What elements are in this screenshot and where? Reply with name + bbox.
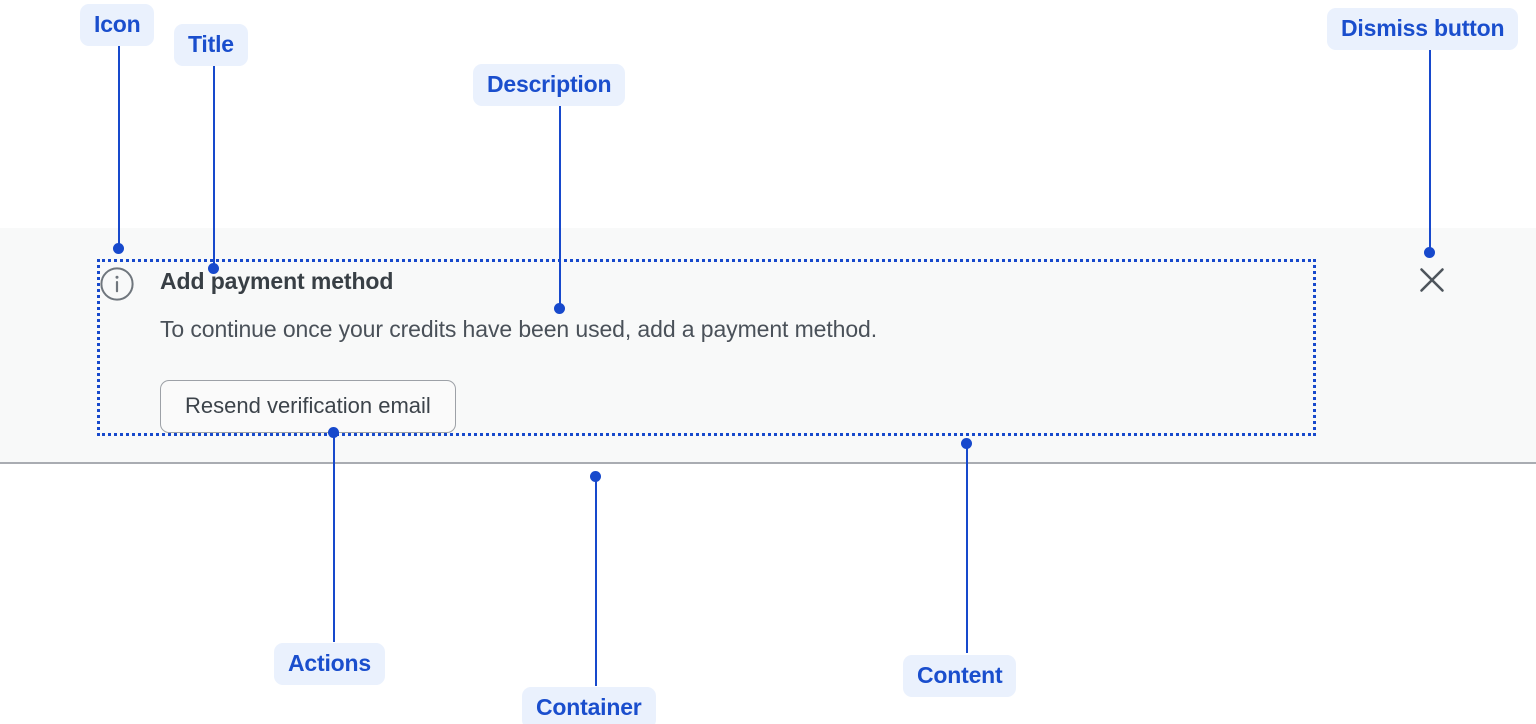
annotation-label-content: Content [903, 655, 1016, 697]
info-circle-icon [99, 266, 135, 302]
banner-content: Add payment method To continue once your… [97, 259, 1316, 435]
annotation-line-description [559, 104, 561, 310]
annotation-line-content [966, 448, 968, 653]
banner-text-block: Add payment method To continue once your… [160, 259, 1310, 344]
annotation-label-container: Container [522, 687, 656, 724]
annotation-label-icon: Icon [80, 4, 154, 46]
annotation-dot-icon [113, 243, 124, 254]
annotation-label-title: Title [174, 24, 248, 66]
annotation-line-icon [118, 44, 120, 250]
annotation-label-dismiss-button: Dismiss button [1327, 8, 1518, 50]
annotation-dot-content [961, 438, 972, 449]
annotated-banner-screenshot: Add payment method To continue once your… [0, 0, 1536, 724]
annotation-label-actions: Actions [274, 643, 385, 685]
annotation-line-container [595, 481, 597, 686]
annotation-dot-actions [328, 427, 339, 438]
banner-actions: Resend verification email [160, 380, 456, 433]
annotation-line-title [213, 64, 215, 270]
resend-verification-email-button[interactable]: Resend verification email [160, 380, 456, 433]
banner-title: Add payment method [160, 259, 1310, 296]
annotation-dot-title [208, 263, 219, 274]
banner-description: To continue once your credits have been … [160, 296, 1310, 344]
annotation-line-dismiss-button [1429, 48, 1431, 254]
annotation-dot-description [554, 303, 565, 314]
annotation-label-description: Description [473, 64, 625, 106]
annotation-dot-dismiss-button [1424, 247, 1435, 258]
dismiss-button[interactable] [1414, 262, 1450, 298]
notification-banner: Add payment method To continue once your… [0, 228, 1536, 464]
annotation-dot-container [590, 471, 601, 482]
annotation-line-actions [333, 437, 335, 642]
